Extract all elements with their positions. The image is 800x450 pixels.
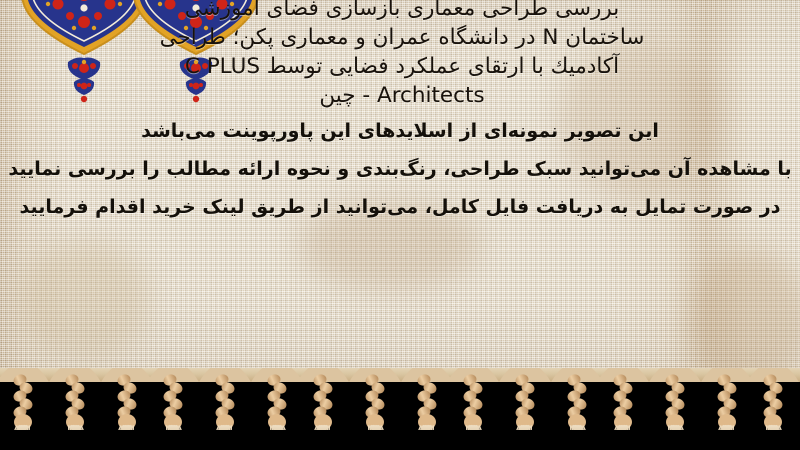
black-backdrop xyxy=(0,430,800,450)
headline-line-2: ساختمان N در دانشگاه عمران و معماری پکن؛… xyxy=(4,23,800,52)
notice-line-3: در صورت تمایل به دریافت فایل کامل، می‌تو… xyxy=(0,188,800,226)
sample-slide-notice: این تصویر نمونه‌ای از اسلایدهای این پاور… xyxy=(0,112,800,226)
notice-line-2: با مشاهده آن می‌توانید سبک طراحی، رنگ‌بن… xyxy=(0,150,800,188)
headline-line-3: آکادمیك با ارتقای عملکرد فضایی توسط C PL… xyxy=(4,52,800,81)
headline-line-1: بررسی طراحی معماری بازسازی فضای آموزشی xyxy=(4,0,800,23)
slide-canvas: بررسی طراحی معماری بازسازی فضای آموزشی س… xyxy=(0,0,800,450)
carpet-background: بررسی طراحی معماری بازسازی فضای آموزشی س… xyxy=(0,0,800,380)
headline-line-4: Architects - چین xyxy=(4,81,800,110)
headline-block: بررسی طراحی معماری بازسازی فضای آموزشی س… xyxy=(0,0,800,110)
notice-line-1: این تصویر نمونه‌ای از اسلایدهای این پاور… xyxy=(0,112,800,150)
canvas-stain xyxy=(20,240,150,360)
